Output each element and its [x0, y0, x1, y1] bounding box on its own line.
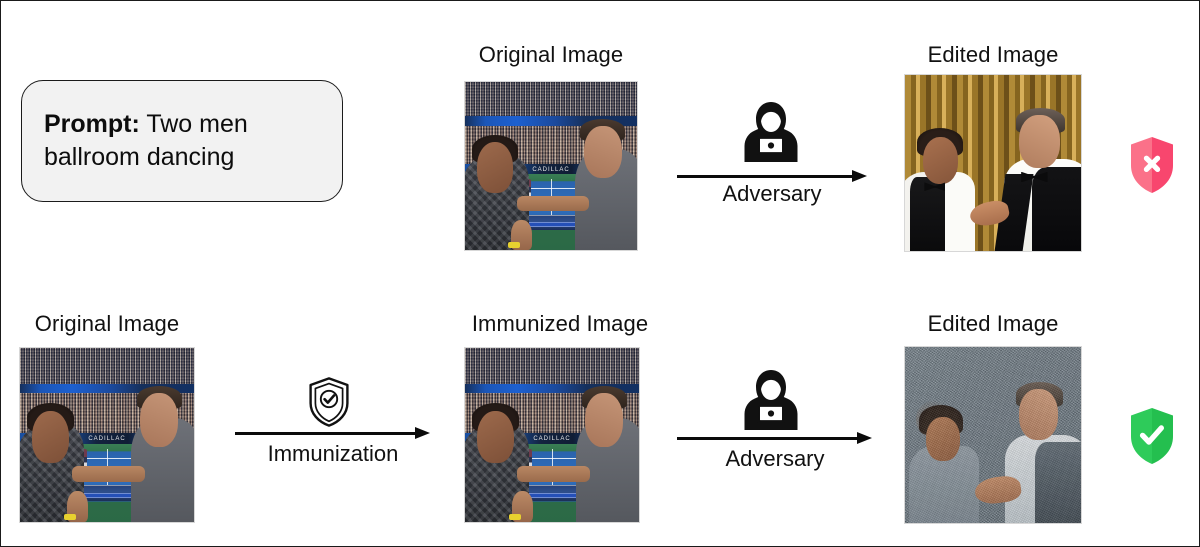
prompt-label: Prompt:: [44, 110, 140, 138]
label-original-image-row1: Original Image: [464, 42, 638, 68]
shield-x-icon: [1125, 135, 1179, 200]
tennis-stadium-scene: [465, 82, 637, 250]
arrow-immunization: [235, 426, 431, 440]
hacker-laptop-icon: [743, 369, 799, 436]
failed-edit-scene: [905, 347, 1081, 523]
arrow-label-adversary-row1: Adversary: [677, 181, 867, 207]
photo-edited-image-row1: [904, 74, 1082, 252]
ballroom-scene: [905, 75, 1081, 251]
label-edited-image-row2: Edited Image: [904, 311, 1082, 337]
photo-immunized-image: [464, 347, 640, 523]
hacker-laptop-icon: [743, 101, 799, 168]
figure-canvas: Prompt: Two men ballroom dancing Origina…: [0, 0, 1200, 547]
tennis-stadium-scene: [20, 348, 194, 522]
photo-edited-image-row2: [904, 346, 1082, 524]
prompt-card: Prompt: Two men ballroom dancing: [21, 80, 343, 202]
label-original-image-row2: Original Image: [19, 311, 195, 337]
shield-check-icon: [1125, 406, 1179, 471]
label-immunized-image: Immunized Image: [462, 311, 658, 337]
label-edited-image-row1: Edited Image: [904, 42, 1082, 68]
prompt-text: Prompt: Two men ballroom dancing: [22, 108, 342, 174]
arrow-adversary-row2: [677, 431, 873, 445]
photo-original-image-row2: [19, 347, 195, 523]
shield-check-outline-icon: [306, 376, 352, 433]
tennis-stadium-scene-immunized: [465, 348, 639, 522]
arrow-label-immunization: Immunization: [229, 441, 437, 467]
photo-original-image-row1: [464, 81, 638, 251]
arrow-label-adversary-row2: Adversary: [677, 446, 873, 472]
